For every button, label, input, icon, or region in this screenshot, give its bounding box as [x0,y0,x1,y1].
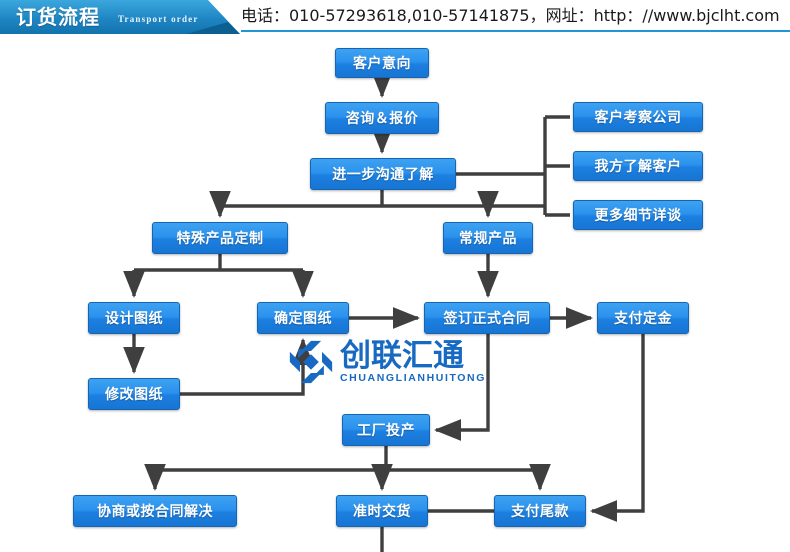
company-name-chinese: 创联汇通 [340,340,486,372]
flow-node-label: 咨询＆报价 [346,108,419,128]
conn-modify-to-confirm [180,340,303,394]
flow-node-on-time-delivery[interactable]: 准时交货 [336,495,428,527]
flow-node-label: 工厂投产 [357,420,415,440]
page-title-chinese: 订货流程 [16,4,100,30]
flow-node-label: 支付尾款 [511,501,569,521]
contact-info-text: 电话：010-57293618,010-57141875，网址：http：//w… [241,2,780,26]
flowchart-canvas: 创联汇通 CHUANGLIANHUITONG 客户意向咨询＆报价进一步沟通了解客… [0,40,790,552]
company-name-pinyin: CHUANGLIANHUITONG [340,372,486,385]
flow-node-label: 准时交货 [353,501,411,521]
page-header: 订货流程 Transport order 电话：010-57293618,010… [0,0,790,40]
flow-node-label: 进一步沟通了解 [332,164,434,184]
flow-node-pay-balance[interactable]: 支付尾款 [494,495,586,527]
order-process-flowchart-page: 订货流程 Transport order 电话：010-57293618,010… [0,0,790,552]
flow-node-label: 客户考察公司 [595,107,682,127]
company-logo-mark-icon [288,339,334,385]
flow-node-more-details[interactable]: 更多细节详谈 [573,200,703,230]
company-watermark-logo: 创联汇通 CHUANGLIANHUITONG [288,336,488,388]
flow-node-label: 支付定金 [614,308,672,328]
flow-node-customer-visit[interactable]: 客户考察公司 [573,102,703,132]
flow-node-standard-product[interactable]: 常规产品 [443,222,533,254]
flow-node-label: 常规产品 [459,228,517,248]
flow-node-label: 修改图纸 [105,384,163,404]
flow-node-further-communication[interactable]: 进一步沟通了解 [310,158,456,190]
flow-node-confirm-drawing[interactable]: 确定图纸 [257,302,349,334]
flow-node-label: 我方了解客户 [595,156,682,176]
flow-node-label: 特殊产品定制 [177,228,264,248]
flow-node-sign-contract[interactable]: 签订正式合同 [424,302,550,334]
flow-node-design-drawing[interactable]: 设计图纸 [88,302,180,334]
flow-node-custom-product[interactable]: 特殊产品定制 [152,222,288,254]
conn-deposit-to-balance [592,334,643,511]
flow-node-negotiate-resolve[interactable]: 协商或按合同解决 [73,495,237,527]
flow-node-customer-intent[interactable]: 客户意向 [335,48,429,78]
flow-node-we-know-customer[interactable]: 我方了解客户 [573,151,703,181]
flow-node-label: 签订正式合同 [444,308,531,328]
flow-node-label: 更多细节详谈 [595,205,682,225]
header-divider-rule [241,30,790,32]
page-title-english: Transport order [118,14,199,24]
flow-node-label: 协商或按合同解决 [97,501,213,521]
flow-node-label: 设计图纸 [105,308,163,328]
flow-node-consult-quote[interactable]: 咨询＆报价 [325,102,439,134]
flow-node-label: 客户意向 [353,53,411,73]
flow-node-pay-deposit[interactable]: 支付定金 [597,302,689,334]
flow-node-label: 确定图纸 [274,308,332,328]
flow-node-modify-drawing[interactable]: 修改图纸 [88,378,180,410]
company-watermark-text: 创联汇通 CHUANGLIANHUITONG [340,340,486,385]
flow-node-factory-production[interactable]: 工厂投产 [342,414,430,446]
